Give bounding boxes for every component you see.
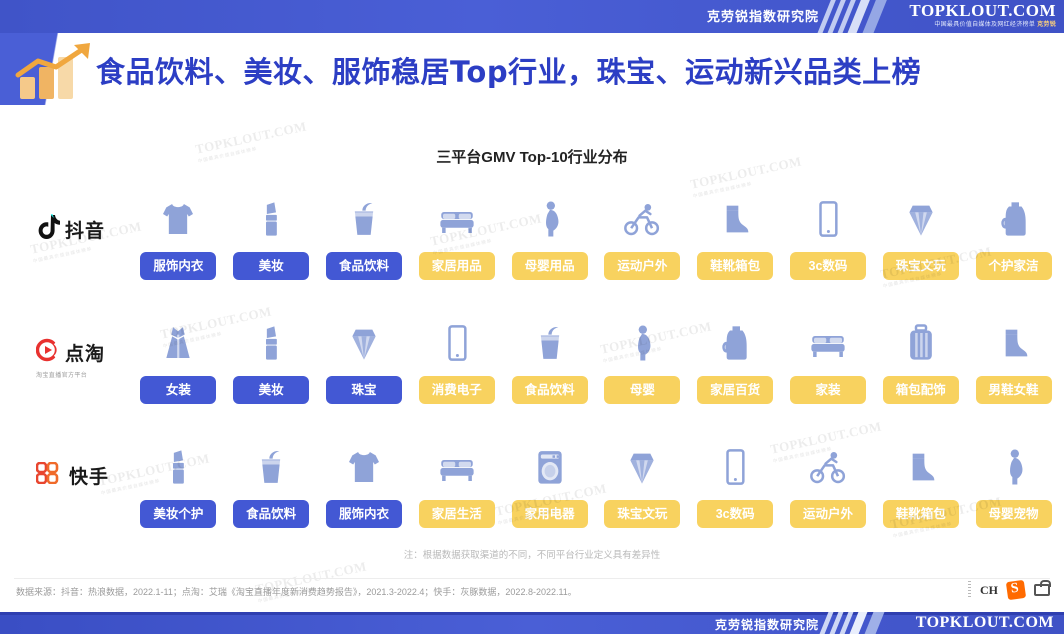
category-tag[interactable]: 食品饮料 bbox=[326, 252, 402, 280]
rank-cell: 消费电子 bbox=[410, 310, 503, 434]
platform-name: 抖音 bbox=[65, 216, 105, 243]
category-tag[interactable]: 食品饮料 bbox=[233, 500, 309, 528]
rank-cell: 美妆 bbox=[225, 186, 318, 310]
header-brand-sub-text: 中国最具价值自媒体及网红经济榜单 bbox=[934, 22, 1035, 28]
page-title: 食品饮料、美妆、服饰稳居Top行业，珠宝、运动新兴品类上榜 bbox=[96, 49, 1056, 91]
platform-label-点淘: 点淘淘宝直播官方平台 bbox=[36, 338, 140, 379]
header-brand-sub-accent: 克劳锐 bbox=[1037, 22, 1056, 28]
category-tag[interactable]: 运动户外 bbox=[604, 252, 680, 280]
category-tag[interactable]: 鞋靴箱包 bbox=[697, 252, 773, 280]
category-tag[interactable]: 珠宝文玩 bbox=[604, 500, 680, 528]
suitcase-icon bbox=[901, 310, 941, 376]
chart-note: 注：根据数据获取渠道的不同，不同平台行业定义具有差异性 bbox=[0, 547, 1064, 561]
title-band: 食品饮料、美妆、服饰稳居Top行业，珠宝、运动新兴品类上榜 bbox=[0, 33, 1064, 105]
rank-cell: 食品饮料 bbox=[225, 434, 318, 558]
detergent-icon bbox=[994, 186, 1034, 252]
rank-cell: 箱包配饰 bbox=[874, 310, 967, 434]
category-tag[interactable]: 美妆个护 bbox=[140, 500, 216, 528]
footer-top-strip bbox=[0, 612, 1064, 615]
platform-row: 点淘淘宝直播官方平台女装美妆珠宝消费电子食品饮料母婴家居百货家装箱包配饰男鞋女鞋 bbox=[0, 310, 1064, 434]
sogou-icon[interactable] bbox=[1006, 580, 1026, 600]
rank-cells: 女装美妆珠宝消费电子食品饮料母婴家居百货家装箱包配饰男鞋女鞋 bbox=[132, 310, 1060, 434]
data-source: 数据来源：抖音：热浪数据，2022.1-11；点淘：艾瑞《淘宝直播年度新消费趋势… bbox=[16, 585, 577, 598]
detergent-icon bbox=[715, 310, 755, 376]
rank-cell: 珠宝文玩 bbox=[596, 434, 689, 558]
rank-cell: 食品饮料 bbox=[503, 310, 596, 434]
cup-icon bbox=[344, 186, 384, 252]
pregnant-icon bbox=[994, 434, 1034, 500]
category-tag[interactable]: 母婴 bbox=[604, 376, 680, 404]
category-tag[interactable]: 家居生活 bbox=[419, 500, 495, 528]
phone-icon bbox=[808, 186, 848, 252]
platform-name: 点淘 bbox=[65, 339, 105, 366]
rank-cell: 运动户外 bbox=[596, 186, 689, 310]
category-tag[interactable]: 食品饮料 bbox=[512, 376, 588, 404]
rank-cell: 家居用品 bbox=[410, 186, 503, 310]
category-tag[interactable]: 家装 bbox=[790, 376, 866, 404]
rank-cell: 女装 bbox=[132, 310, 225, 434]
diamond-icon bbox=[901, 186, 941, 252]
washer-icon bbox=[530, 434, 570, 500]
lipstick-icon bbox=[251, 186, 291, 252]
boot-icon bbox=[715, 186, 755, 252]
category-tag[interactable]: 3c数码 bbox=[790, 252, 866, 280]
platform-row: 抖音服饰内衣美妆食品饮料家居用品母婴用品运动户外鞋靴箱包3c数码珠宝文玩个护家洁 bbox=[0, 186, 1064, 310]
category-tag[interactable]: 家居百货 bbox=[697, 376, 773, 404]
cup-icon bbox=[251, 434, 291, 500]
category-tag[interactable]: 消费电子 bbox=[419, 376, 495, 404]
rank-cell: 美妆个护 bbox=[132, 434, 225, 558]
footer-brand: TOPKLOUT.COM bbox=[916, 614, 1054, 632]
bed-icon bbox=[807, 310, 849, 376]
rank-cell: 3c数码 bbox=[689, 434, 782, 558]
rank-cell: 服饰内衣 bbox=[132, 186, 225, 310]
rank-cell: 美妆 bbox=[225, 310, 318, 434]
category-tag[interactable]: 男鞋女鞋 bbox=[976, 376, 1052, 404]
rank-cell: 家居生活 bbox=[410, 434, 503, 558]
category-tag[interactable]: 珠宝文玩 bbox=[883, 252, 959, 280]
cup-icon bbox=[530, 310, 570, 376]
rank-cell: 母婴 bbox=[596, 310, 689, 434]
douyin-logo bbox=[36, 214, 60, 245]
bed-icon bbox=[436, 434, 478, 500]
pregnant-icon bbox=[530, 186, 570, 252]
footer-stripes-icon bbox=[822, 612, 884, 634]
category-tag[interactable]: 家用电器 bbox=[512, 500, 588, 528]
platform-row: 快手美妆个护食品饮料服饰内衣家居生活家用电器珠宝文玩3c数码运动户外鞋靴箱包母婴… bbox=[0, 434, 1064, 558]
platform-label-抖音: 抖音 bbox=[36, 214, 140, 245]
header-brand-sub: 中国最具价值自媒体及网红经济榜单 克劳锐 bbox=[909, 22, 1056, 28]
category-tag[interactable]: 服饰内衣 bbox=[326, 500, 402, 528]
rank-cell: 鞋靴箱包 bbox=[874, 434, 967, 558]
category-tag[interactable]: 3c数码 bbox=[697, 500, 773, 528]
category-tag[interactable]: 服饰内衣 bbox=[140, 252, 216, 280]
category-tag[interactable]: 母婴宠物 bbox=[976, 500, 1052, 528]
source-divider bbox=[14, 578, 1050, 579]
lipstick-icon bbox=[158, 434, 198, 500]
diamond-icon bbox=[344, 310, 384, 376]
category-tag[interactable]: 女装 bbox=[140, 376, 216, 404]
category-tag[interactable]: 美妆 bbox=[233, 376, 309, 404]
phone-icon bbox=[437, 310, 477, 376]
cyclist-icon bbox=[622, 186, 662, 252]
rank-cell: 母婴宠物 bbox=[967, 434, 1060, 558]
rank-cell: 珠宝文玩 bbox=[874, 186, 967, 310]
boot-icon bbox=[994, 310, 1034, 376]
cyclist-icon bbox=[808, 434, 848, 500]
header-institute: 克劳锐指数研究院 bbox=[707, 6, 819, 25]
phone-icon bbox=[715, 434, 755, 500]
footer-institute: 克劳锐指数研究院 bbox=[715, 616, 819, 633]
header-brand-name: TOPKLOUT.COM bbox=[909, 2, 1056, 19]
diamond-icon bbox=[622, 434, 662, 500]
platform-label-快手: 快手 bbox=[36, 462, 140, 489]
ime-toolbar[interactable]: CH bbox=[962, 575, 1056, 605]
rank-cell: 3c数码 bbox=[782, 186, 875, 310]
slide-page: 克劳锐指数研究院 TOPKLOUT.COM 中国最具价值自媒体及网红经济榜单 克… bbox=[0, 0, 1064, 634]
keyboard-icon[interactable] bbox=[1034, 584, 1050, 596]
rank-cell: 食品饮料 bbox=[318, 186, 411, 310]
platform-subtitle: 淘宝直播官方平台 bbox=[36, 370, 140, 379]
category-tag[interactable]: 鞋靴箱包 bbox=[883, 500, 959, 528]
rank-cell: 服饰内衣 bbox=[318, 434, 411, 558]
rank-cell: 珠宝 bbox=[318, 310, 411, 434]
header-brand: TOPKLOUT.COM 中国最具价值自媒体及网红经济榜单 克劳锐 bbox=[909, 2, 1056, 28]
category-tag[interactable]: 母婴用品 bbox=[512, 252, 588, 280]
rank-cell: 家用电器 bbox=[503, 434, 596, 558]
rank-cell: 家居百货 bbox=[689, 310, 782, 434]
category-tag[interactable]: 个护家洁 bbox=[976, 252, 1052, 280]
category-tag[interactable]: 美妆 bbox=[233, 252, 309, 280]
tshirt-icon bbox=[344, 434, 384, 500]
rank-cell: 母婴用品 bbox=[503, 186, 596, 310]
rank-cell: 运动户外 bbox=[782, 434, 875, 558]
ime-drag-handle[interactable] bbox=[968, 581, 971, 599]
kuaishou-logo bbox=[36, 462, 64, 489]
header-bar: 克劳锐指数研究院 TOPKLOUT.COM 中国最具价值自媒体及网红经济榜单 克… bbox=[0, 0, 1064, 33]
rank-cells: 服饰内衣美妆食品饮料家居用品母婴用品运动户外鞋靴箱包3c数码珠宝文玩个护家洁 bbox=[132, 186, 1060, 310]
diantao-logo bbox=[36, 338, 60, 367]
header-stripes-icon bbox=[822, 0, 884, 33]
rank-cell: 家装 bbox=[782, 310, 875, 434]
rank-cell: 鞋靴箱包 bbox=[689, 186, 782, 310]
category-tag[interactable]: 珠宝 bbox=[326, 376, 402, 404]
rank-cell: 个护家洁 bbox=[967, 186, 1060, 310]
platform-rows: 抖音服饰内衣美妆食品饮料家居用品母婴用品运动户外鞋靴箱包3c数码珠宝文玩个护家洁… bbox=[0, 186, 1064, 558]
pregnant-icon bbox=[622, 310, 662, 376]
dress-icon bbox=[158, 310, 198, 376]
tshirt-icon bbox=[158, 186, 198, 252]
footer-bar: 克劳锐指数研究院 TOPKLOUT.COM bbox=[0, 612, 1064, 634]
ime-language-label[interactable]: CH bbox=[980, 583, 998, 598]
platform-name: 快手 bbox=[69, 462, 109, 489]
chart-title: 三平台GMV Top-10行业分布 bbox=[0, 146, 1064, 167]
rank-cells: 美妆个护食品饮料服饰内衣家居生活家用电器珠宝文玩3c数码运动户外鞋靴箱包母婴宠物 bbox=[132, 434, 1060, 558]
category-tag[interactable]: 箱包配饰 bbox=[883, 376, 959, 404]
bed-icon bbox=[436, 186, 478, 252]
rank-cell: 男鞋女鞋 bbox=[967, 310, 1060, 434]
category-tag[interactable]: 家居用品 bbox=[419, 252, 495, 280]
category-tag[interactable]: 运动户外 bbox=[790, 500, 866, 528]
boot-icon bbox=[901, 434, 941, 500]
growth-chart-icon bbox=[8, 41, 108, 103]
lipstick-icon bbox=[251, 310, 291, 376]
